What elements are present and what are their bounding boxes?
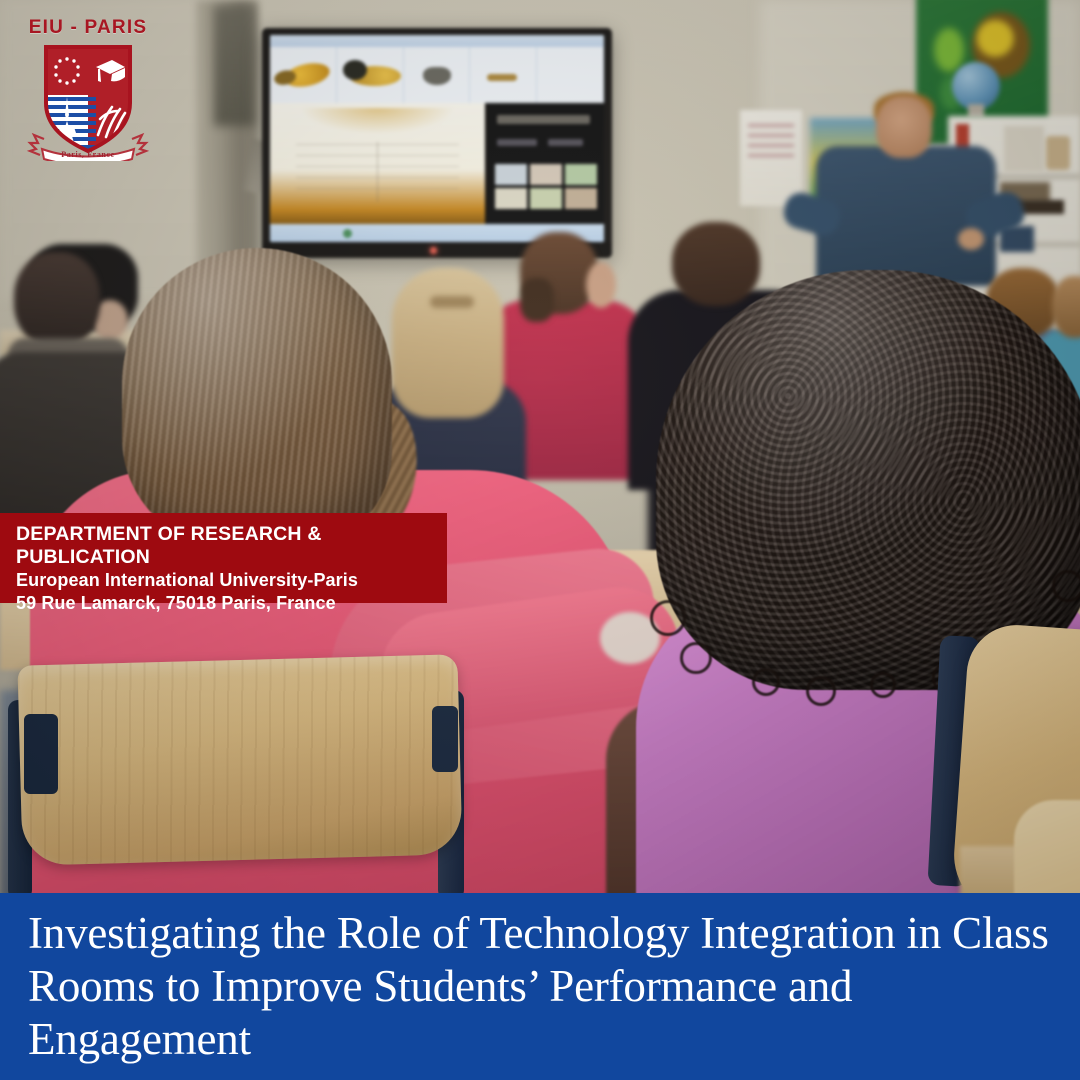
interactive-whiteboard <box>262 28 612 258</box>
thumbnail-cell <box>404 47 471 103</box>
hair-curl <box>650 600 686 636</box>
ribbon-label: Paris, France <box>22 150 154 159</box>
chair-bracket <box>24 714 58 794</box>
student-red-shirt-face <box>586 262 616 308</box>
globe-icon <box>952 62 1000 110</box>
logo-wordmark: EIU - PARIS <box>22 18 154 37</box>
classroom-door-glass <box>214 6 254 126</box>
whiteboard-app-titlebar <box>270 35 604 47</box>
teacher-head <box>876 96 932 158</box>
hair-curl <box>1052 570 1080 602</box>
teacher-hand <box>958 228 984 250</box>
label-strip-icon <box>487 74 517 81</box>
front-right-chair <box>1014 800 1080 898</box>
shelf-storage-box <box>1004 126 1044 172</box>
student-red-shirt-ponytail <box>520 278 554 322</box>
thumbnail-cell <box>337 47 404 103</box>
whiteboard-sidebar-pane <box>488 103 604 224</box>
hair-curl <box>806 676 836 706</box>
power-led-icon <box>430 247 437 254</box>
shield-crest-icon <box>22 41 154 161</box>
student-hair-tie <box>430 296 474 308</box>
whiteboard-screen <box>270 35 604 242</box>
sidebar-heading-bar <box>497 115 590 124</box>
logo-shield: Paris, France <box>22 41 154 161</box>
street-address: 59 Rue Lamarck, 75018 Paris, France <box>16 592 447 615</box>
insect-image-icon <box>349 66 401 86</box>
department-name: DEPARTMENT OF RESEARCH & PUBLICATION <box>16 523 447 569</box>
whiteboard-content-area <box>270 103 604 224</box>
university-name: European International University-Paris <box>16 569 447 592</box>
hair-curl <box>752 668 780 696</box>
poster-motif-leaf <box>934 28 964 72</box>
thumbnail-cell <box>537 47 604 103</box>
hair-curl <box>680 642 712 674</box>
student-patterned-head <box>672 222 760 306</box>
page-title: Investigating the Role of Technology Int… <box>28 907 1054 1066</box>
white-wall-sheet <box>740 110 802 206</box>
sidebar-label-bar <box>497 139 536 146</box>
whiteboard-document-pane <box>270 103 488 224</box>
hair-curl <box>870 672 896 698</box>
thumbnail-cell <box>270 47 337 103</box>
shelf-jar <box>1046 136 1070 170</box>
sidebar-thumbnail-grid <box>495 164 597 210</box>
classroom-photo <box>0 0 1080 898</box>
insect-image-icon <box>283 59 333 90</box>
student-head-left <box>14 252 100 348</box>
foreground-student-pink-hair <box>122 248 392 548</box>
poster-card: EIU - PARIS <box>0 0 1080 1080</box>
whiteboard-thumbnail-strip <box>270 47 604 104</box>
document-column-rule <box>377 142 378 203</box>
chair-bracket <box>432 706 458 772</box>
foreground-chair-left-back <box>17 654 462 865</box>
sidebar-label-bar <box>548 139 583 146</box>
thumbnail-cell <box>470 47 537 103</box>
insect-image-icon <box>423 67 451 85</box>
title-bar: Investigating the Role of Technology Int… <box>0 893 1080 1080</box>
eiu-paris-logo: EIU - PARIS <box>22 18 154 176</box>
address-banner: DEPARTMENT OF RESEARCH & PUBLICATION Eur… <box>0 513 447 603</box>
student-blonde-hair <box>392 268 504 418</box>
